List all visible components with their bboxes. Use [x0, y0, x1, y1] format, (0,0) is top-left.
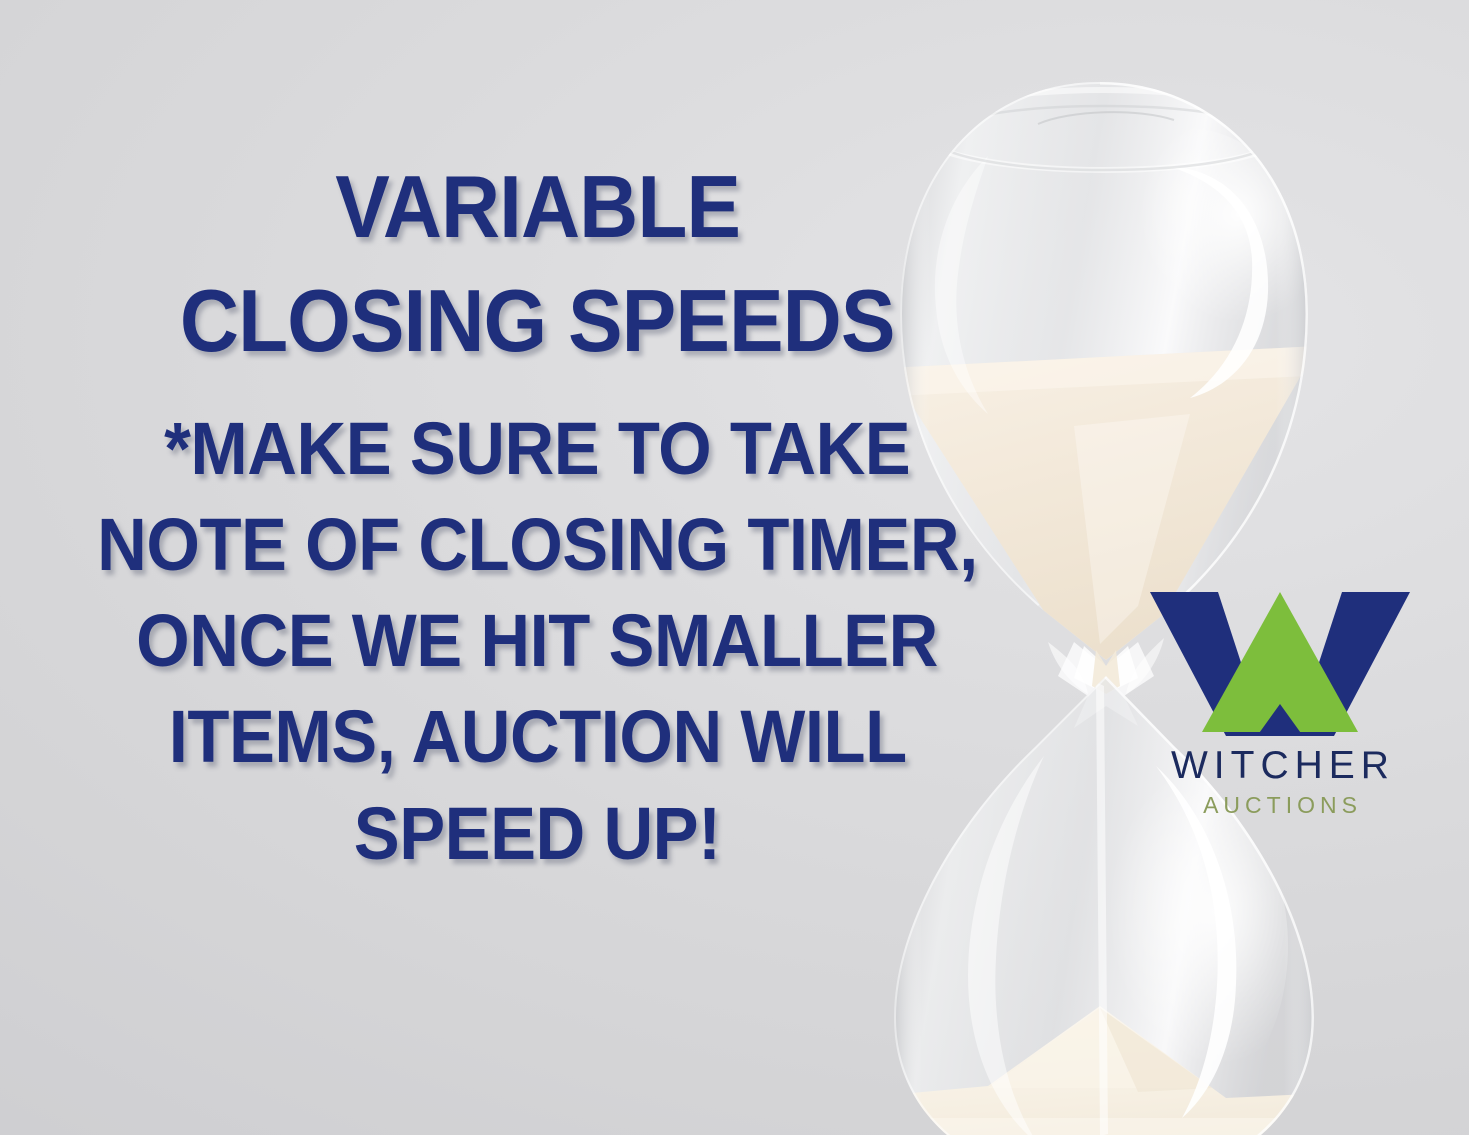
witcher-auctions-logo: WITCHER AUCTIONS [1146, 586, 1414, 814]
body-line-3: ONCE WE HIT SMALLER [137, 593, 939, 689]
body-line-1: *MAKE SURE TO TAKE [164, 401, 910, 497]
headline-line-2: CLOSING SPEEDS [180, 264, 895, 378]
body-line-4: ITEMS, AUCTION WILL [169, 689, 907, 785]
logo-wordmark: WITCHER [1146, 746, 1414, 785]
poster-canvas: VARIABLE CLOSING SPEEDS *MAKE SURE TO TA… [0, 0, 1469, 1135]
poster-copy: VARIABLE CLOSING SPEEDS *MAKE SURE TO TA… [0, 0, 1075, 1135]
logo-sub-wordmark: AUCTIONS [1146, 794, 1414, 817]
headline-line-1: VARIABLE [335, 150, 740, 264]
body-line-2: NOTE OF CLOSING TIMER, [97, 497, 978, 593]
witcher-w-mark [1146, 586, 1414, 736]
body-line-5: SPEED UP! [354, 786, 721, 882]
